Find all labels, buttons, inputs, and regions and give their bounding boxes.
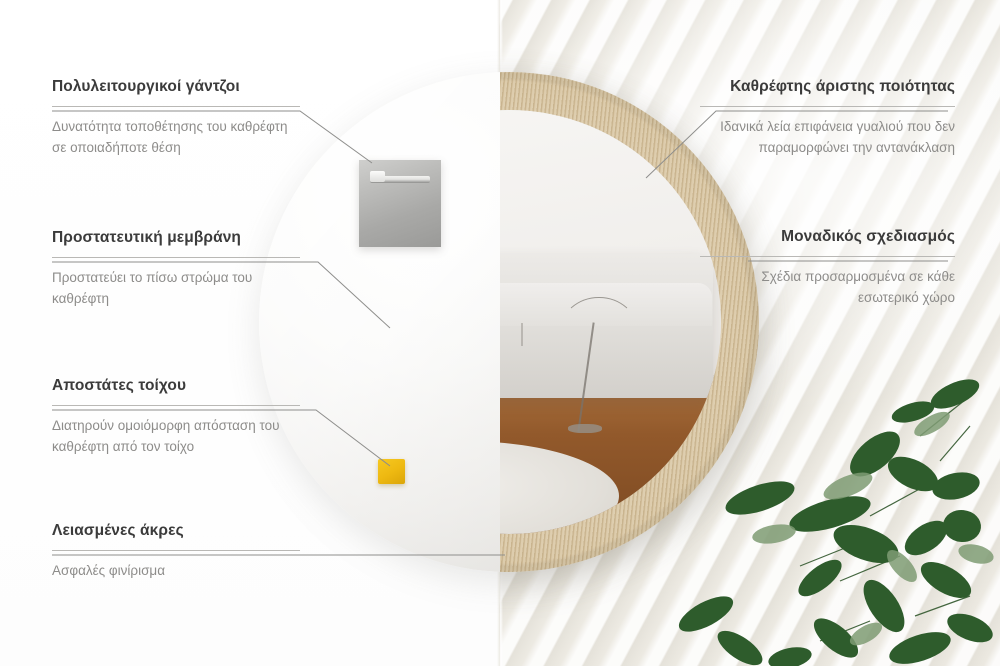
callout-body: Ασφαλές φινίρισμα [52,561,300,582]
callout-body: Ιδανικά λεία επιφάνεια γυαλιού που δεν π… [700,117,955,159]
hook-tab [370,171,385,181]
callout-rule [52,550,300,551]
callout-body: Διατηρούν ομοιόμορφη απόσταση του καθρέφ… [52,416,300,458]
callout-unique-design: Μοναδικός σχεδιασμός Σχέδια προσαρμοσμέν… [700,228,955,308]
callout-rule [52,106,300,107]
callout-protective-membrane: Προστατευτική μεμβράνη Προστατεύει το πί… [52,229,300,309]
callout-body: Δυνατότητα τοποθέτησης του καθρέφτη σε ο… [52,117,300,159]
callout-top-quality-mirror: Καθρέφτης άριστης ποιότητας Ιδανικά λεία… [700,78,955,158]
callout-polished-edges: Λειασμένες άκρες Ασφαλές φινίρισμα [52,522,300,582]
mounting-hook-plate [359,160,441,247]
reflected-cushion-seam [521,323,523,346]
callout-title: Πολυλειτουργικοί γάντζοι [52,78,300,97]
callout-multifunction-hooks: Πολυλειτουργικοί γάντζοι Δυνατότητα τοπο… [52,78,300,158]
callout-rule [52,257,300,258]
product-feature-infographic: Πολυλειτουργικοί γάντζοι Δυνατότητα τοπο… [0,0,1000,666]
callout-title: Λειασμένες άκρες [52,522,300,541]
callout-wall-spacers: Αποστάτες τοίχου Διατηρούν ομοιόμορφη απ… [52,377,300,457]
reflected-lamp-base [568,424,602,433]
callout-title: Προστατευτική μεμβράνη [52,229,300,248]
callout-body: Σχέδια προσαρμοσμένα σε κάθε εσωτερικό χ… [700,267,955,309]
callout-body: Προστατεύει το πίσω στρώμα του καθρέφτη [52,268,300,310]
callout-rule [52,405,300,406]
callout-title: Καθρέφτης άριστης ποιότητας [700,78,955,97]
callout-title: Μοναδικός σχεδιασμός [700,228,955,247]
reflected-arc-lamp [560,297,638,367]
callout-rule [700,106,955,107]
callout-rule [700,256,955,257]
callout-title: Αποστάτες τοίχου [52,377,300,396]
foliage-decoration [670,366,1000,666]
wall-spacer-block [378,459,405,484]
